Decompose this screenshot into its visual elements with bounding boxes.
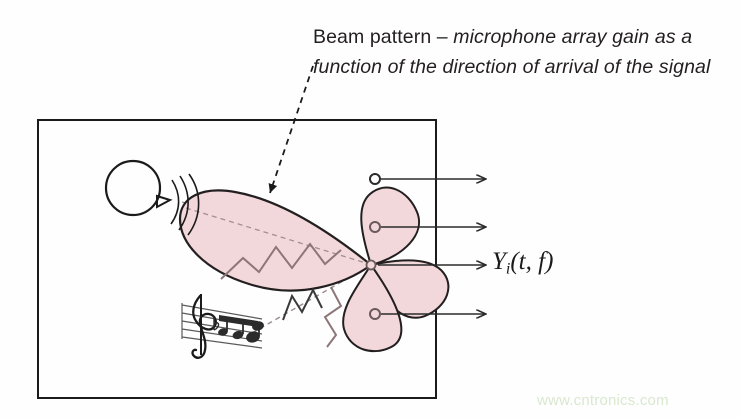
formula-symbol: Y <box>492 248 506 275</box>
beam-pattern-figure: Beam pattern – microphone array gain as … <box>0 0 740 419</box>
site-watermark: www.cntronics.com <box>537 392 669 409</box>
caption-lead: Beam pattern – <box>313 26 453 48</box>
head-circle <box>106 161 160 215</box>
formula-arguments: (t, f) <box>510 248 553 275</box>
microphone-element-4[interactable] <box>370 309 380 319</box>
speaking-head <box>106 161 170 215</box>
music-signal-zigzag <box>283 290 322 320</box>
output-signal-label: Yi(t, f) <box>492 248 553 278</box>
microphone-element-1[interactable] <box>370 174 380 184</box>
main-lobe <box>180 190 371 290</box>
treble-clef-icon <box>193 296 216 358</box>
microphone-element-3[interactable] <box>367 261 376 270</box>
microphone-element-2[interactable] <box>370 222 380 232</box>
music-notes-source <box>182 294 265 358</box>
lower-lobe-zigzag <box>325 287 341 347</box>
wavefront-arc-1 <box>171 180 179 224</box>
caption-pointer-arrow <box>270 66 313 193</box>
figure-caption: Beam pattern – microphone array gain as … <box>313 22 733 82</box>
